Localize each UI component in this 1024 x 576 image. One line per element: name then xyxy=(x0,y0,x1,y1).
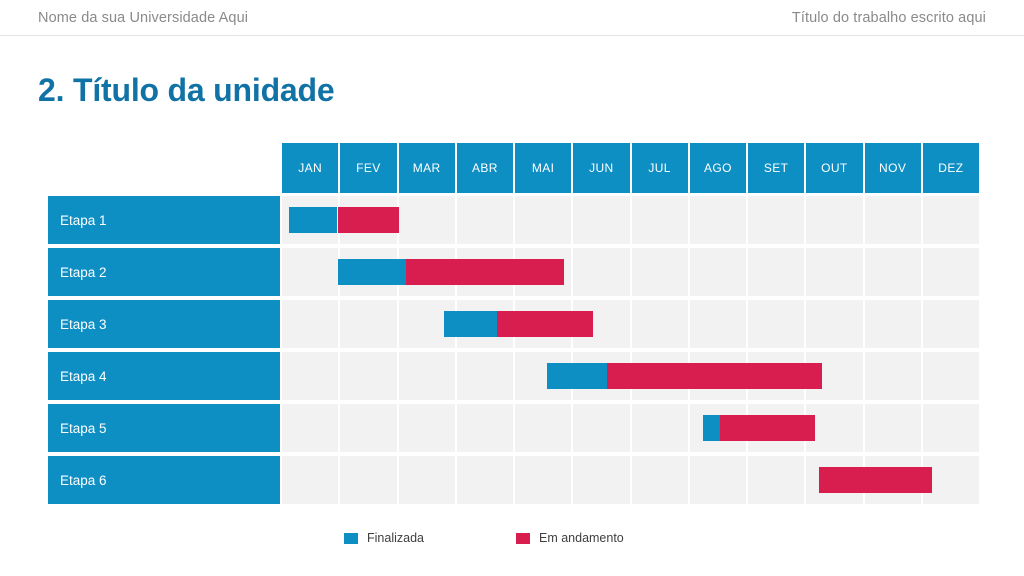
grid-cell xyxy=(340,352,396,400)
grid-cell xyxy=(806,300,862,348)
legend-item-ongoing: Em andamento xyxy=(516,531,624,545)
grid-cell xyxy=(515,404,571,452)
grid-cell xyxy=(399,456,455,504)
grid-cell xyxy=(748,456,804,504)
grid-cell xyxy=(923,352,979,400)
grid-cell xyxy=(748,300,804,348)
grid-cell xyxy=(282,456,338,504)
month-header-set: SET xyxy=(748,143,804,193)
bar-finalizada-2 xyxy=(338,259,406,285)
gantt-chart: JANFEVMARABRMAIJUNJULAGOSETOUTNOVDEZEtap… xyxy=(0,0,1024,576)
stage-label-5: Etapa 5 xyxy=(48,404,280,452)
bar-em-andamento-6 xyxy=(819,467,933,493)
stage-label-6: Etapa 6 xyxy=(48,456,280,504)
grid-cell xyxy=(399,404,455,452)
legend-swatch-ongoing-icon xyxy=(516,533,530,544)
grid-cell xyxy=(340,300,396,348)
grid-cell xyxy=(457,456,513,504)
grid-cell xyxy=(632,248,688,296)
chart-legend: FinalizadaEm andamento xyxy=(344,531,624,545)
grid-cell xyxy=(573,404,629,452)
grid-cell xyxy=(865,248,921,296)
bar-finalizada-5 xyxy=(703,415,719,441)
stage-label-4: Etapa 4 xyxy=(48,352,280,400)
grid-cell xyxy=(865,404,921,452)
legend-item-done: Finalizada xyxy=(344,531,424,545)
month-header-mai: MAI xyxy=(515,143,571,193)
month-header-jan: JAN xyxy=(282,143,338,193)
grid-cell xyxy=(923,300,979,348)
grid-cell xyxy=(282,248,338,296)
grid-cell xyxy=(632,456,688,504)
grid-cell xyxy=(340,456,396,504)
bar-finalizada-4 xyxy=(547,363,606,389)
legend-label: Finalizada xyxy=(367,531,424,545)
grid-cell xyxy=(806,196,862,244)
legend-swatch-done-icon xyxy=(344,533,358,544)
month-header-nov: NOV xyxy=(865,143,921,193)
grid-cell xyxy=(865,300,921,348)
grid-cell xyxy=(690,196,746,244)
bar-finalizada-1 xyxy=(289,207,337,233)
grid-cell xyxy=(282,404,338,452)
grid-cell xyxy=(865,352,921,400)
grid-cell xyxy=(748,196,804,244)
stage-label-1: Etapa 1 xyxy=(48,196,280,244)
stage-label-2: Etapa 2 xyxy=(48,248,280,296)
grid-cell xyxy=(399,352,455,400)
bar-finalizada-3 xyxy=(444,311,496,337)
bar-em-andamento-4 xyxy=(607,363,822,389)
month-header-out: OUT xyxy=(806,143,862,193)
legend-label: Em andamento xyxy=(539,531,624,545)
bar-em-andamento-3 xyxy=(497,311,594,337)
grid-cell xyxy=(632,300,688,348)
grid-cell xyxy=(573,456,629,504)
grid-cell xyxy=(806,248,862,296)
month-header-abr: ABR xyxy=(457,143,513,193)
grid-cell xyxy=(573,196,629,244)
month-header-fev: FEV xyxy=(340,143,396,193)
grid-cell xyxy=(632,196,688,244)
grid-cell xyxy=(690,300,746,348)
month-header-jul: JUL xyxy=(632,143,688,193)
grid-cell xyxy=(282,352,338,400)
bar-em-andamento-2 xyxy=(406,259,564,285)
bar-em-andamento-1 xyxy=(338,207,400,233)
bar-em-andamento-5 xyxy=(720,415,816,441)
grid-cell xyxy=(399,196,455,244)
grid-cell xyxy=(573,248,629,296)
month-header-mar: MAR xyxy=(399,143,455,193)
month-header-ago: AGO xyxy=(690,143,746,193)
grid-cell xyxy=(457,404,513,452)
grid-cell xyxy=(690,456,746,504)
grid-cell xyxy=(515,196,571,244)
grid-cell xyxy=(632,404,688,452)
grid-cell xyxy=(340,404,396,452)
grid-cell xyxy=(457,196,513,244)
month-header-jun: JUN xyxy=(573,143,629,193)
grid-cell xyxy=(923,248,979,296)
grid-cell xyxy=(923,404,979,452)
month-header-dez: DEZ xyxy=(923,143,979,193)
grid-cell xyxy=(748,248,804,296)
grid-cell xyxy=(690,248,746,296)
grid-cell xyxy=(515,456,571,504)
grid-cell xyxy=(457,352,513,400)
stage-label-3: Etapa 3 xyxy=(48,300,280,348)
grid-cell xyxy=(865,196,921,244)
grid-cell xyxy=(923,196,979,244)
grid-cell xyxy=(282,300,338,348)
